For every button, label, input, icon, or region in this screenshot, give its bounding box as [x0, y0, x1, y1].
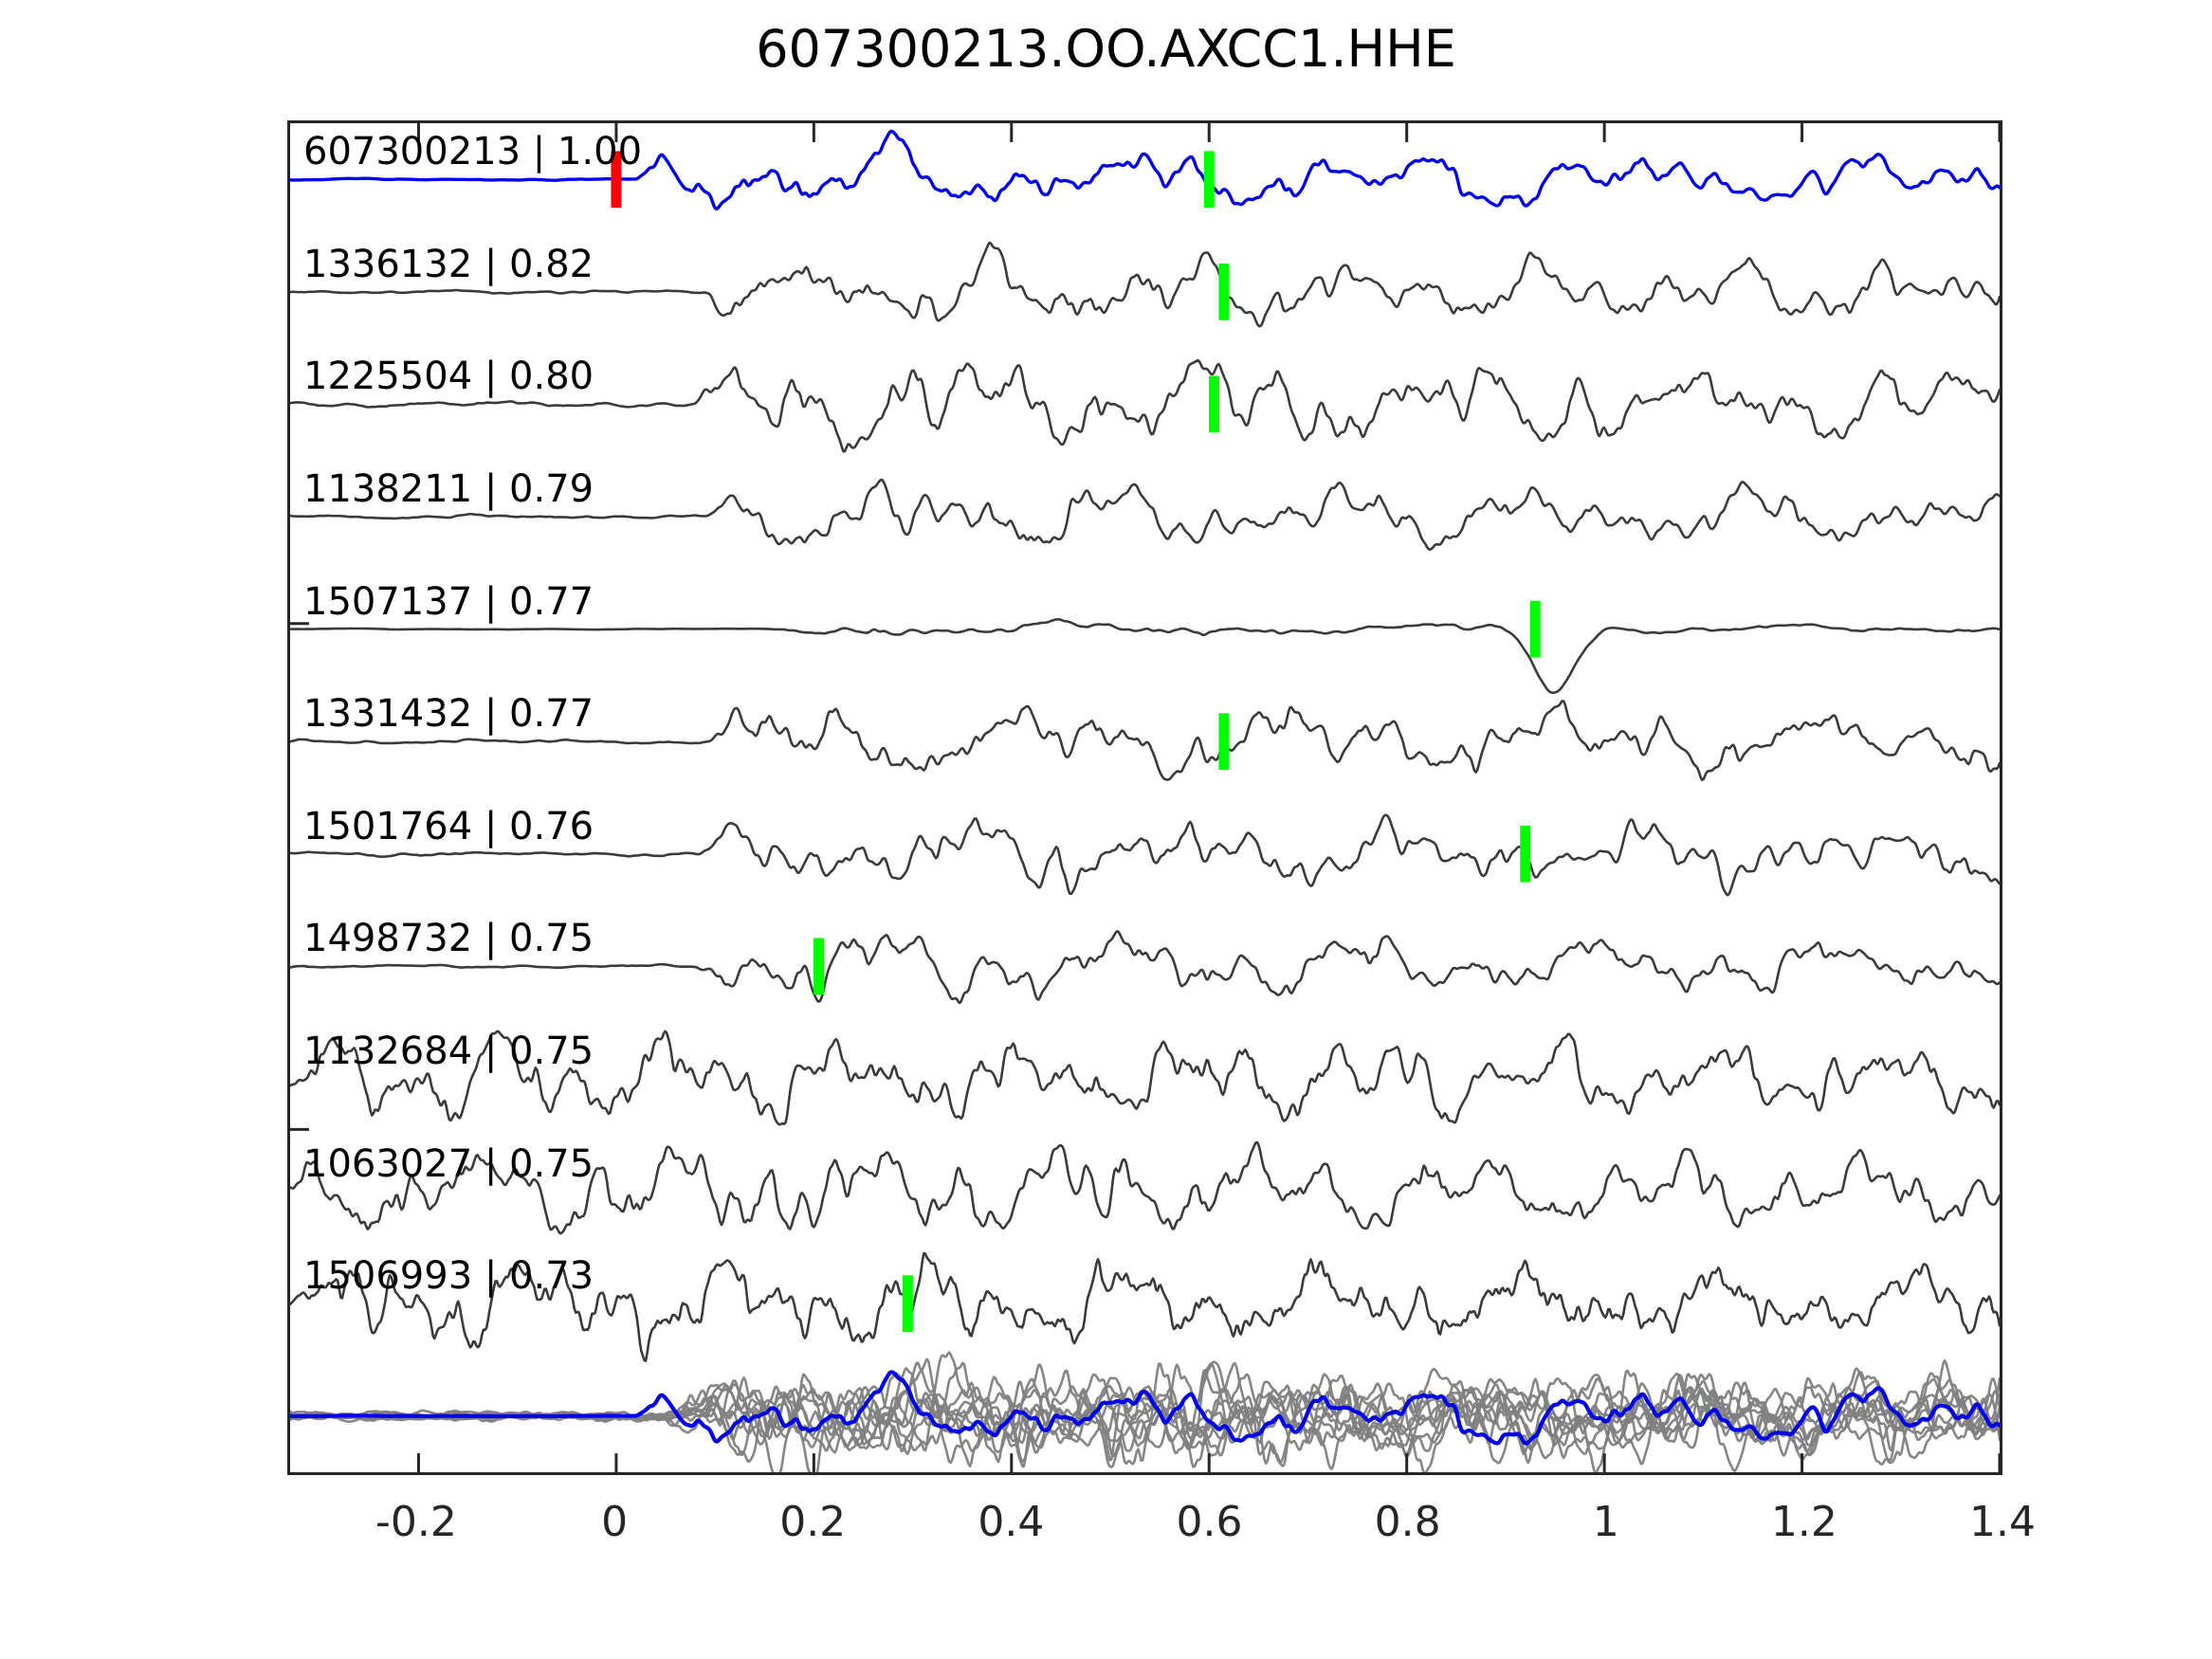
detection-pick-marker[interactable]	[903, 1275, 913, 1332]
waveform-path	[290, 1253, 2000, 1360]
waveform-path	[290, 480, 2000, 549]
detection-pick-marker[interactable]	[1520, 826, 1530, 883]
waveform-path	[290, 1031, 2000, 1124]
template-pick-marker[interactable]	[611, 151, 621, 208]
x-tick-label: 0.2	[779, 1498, 846, 1546]
waveform-path	[290, 701, 2000, 779]
detection-pick-marker[interactable]	[1218, 264, 1229, 320]
x-tick-label: 1.2	[1771, 1498, 1837, 1546]
waveform-canvas	[290, 123, 2000, 1472]
x-tick-label: 1	[1593, 1498, 1619, 1546]
page-title: 607300213.OO.AXCC1.HHE	[0, 19, 2212, 79]
detection-pick-marker[interactable]	[1204, 151, 1215, 208]
waveform-path	[290, 619, 2000, 693]
plot-area[interactable]: 607300213 | 1.001336132 | 0.821225504 | …	[287, 120, 2002, 1475]
x-tick-label: 0.6	[1176, 1498, 1242, 1546]
waveform-path	[290, 243, 2000, 326]
seismic-waveform-figure: 607300213.OO.AXCC1.HHE 607300213 | 1.001…	[0, 0, 2212, 1659]
waveform-path	[290, 360, 2000, 451]
detection-pick-marker[interactable]	[814, 939, 824, 995]
x-tick-label: 0.4	[978, 1498, 1044, 1546]
detection-pick-marker[interactable]	[1530, 601, 1541, 658]
detection-pick-marker[interactable]	[1209, 376, 1219, 433]
waveform-path	[290, 1142, 2000, 1233]
x-tick-label: 0	[601, 1498, 628, 1546]
waveform-path	[290, 131, 2000, 209]
x-tick-label: -0.2	[375, 1498, 457, 1546]
x-tick-label: 0.8	[1375, 1498, 1441, 1546]
detection-pick-marker[interactable]	[1218, 713, 1229, 770]
x-tick-label: 1.4	[1969, 1498, 2036, 1546]
waveform-path	[290, 815, 2000, 895]
waveform-path	[290, 931, 2000, 1003]
